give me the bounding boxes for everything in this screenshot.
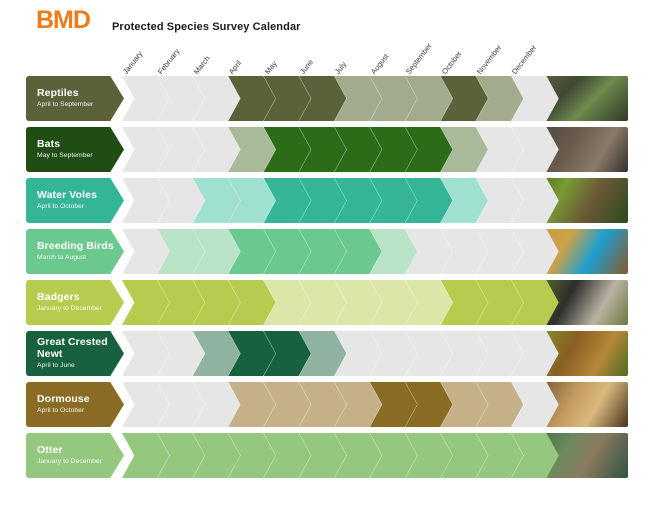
survey-calendar-page: BMD Protected Species Survey Calendar Ja… — [0, 0, 654, 508]
month-header-row: JanuaryFebruaryMarchAprilMayJuneJulyAugu… — [0, 30, 654, 76]
species-row[interactable]: Breeding BirdsMarch to AugustSub-optimal — [26, 229, 628, 274]
species-season-range: January to December — [37, 305, 124, 313]
species-name: Breeding Birds — [37, 241, 124, 253]
species-season-range: April to October — [37, 203, 124, 211]
species-label-cell[interactable]: DormouseApril to October — [26, 382, 124, 427]
species-season-range: March to August — [37, 254, 124, 262]
species-label-cell[interactable]: BadgersJanuary to December — [26, 280, 124, 325]
species-label-cell[interactable]: Water VolesApril to October — [26, 178, 124, 223]
species-name: Dormouse — [37, 394, 124, 406]
month-cells: Sub-optimalOptimal — [122, 178, 561, 223]
month-cells: Sub-optimalOptimal — [122, 127, 561, 172]
month-cells: OptimalSub-optimal — [122, 280, 561, 325]
species-label-cell[interactable]: Great Crested NewtApril to June — [26, 331, 124, 376]
month-label-july: July — [333, 60, 348, 76]
month-cells: Year-round coverage with seasonal caveat… — [122, 433, 561, 478]
month-label-december: December — [510, 43, 538, 76]
species-label-shape: ReptilesApril to September — [26, 76, 124, 121]
month-label-april: April — [227, 59, 243, 76]
species-label-shape: BadgersJanuary to December — [26, 280, 124, 325]
month-cells: Sub-optimalOptimal — [122, 331, 561, 376]
species-name: Bats — [37, 139, 124, 151]
species-row[interactable]: DormouseApril to OctoberSub-optimalOptim… — [26, 382, 628, 427]
species-season-range: April to September — [37, 101, 124, 109]
species-row[interactable]: BadgersJanuary to DecemberOptimalSub-opt… — [26, 280, 628, 325]
species-label-cell[interactable]: OtterJanuary to December — [26, 433, 124, 478]
species-season-range: April to June — [37, 362, 124, 370]
species-label-shape: Great Crested NewtApril to June — [26, 331, 124, 376]
species-season-range: January to December — [37, 458, 124, 466]
species-season-range: April to October — [37, 407, 124, 415]
species-label-shape: DormouseApril to October — [26, 382, 124, 427]
species-name: Badgers — [37, 292, 124, 304]
species-row[interactable]: ReptilesApril to SeptemberOptimalSub-opt… — [26, 76, 628, 121]
month-label-march: March — [192, 54, 212, 76]
species-label-shape: BatsMay to September — [26, 127, 124, 172]
month-label-august: August — [369, 52, 390, 76]
month-label-february: February — [156, 47, 182, 76]
species-season-range: May to September — [37, 152, 124, 160]
species-label-shape: OtterJanuary to December — [26, 433, 124, 478]
month-cells: OptimalSub-optimal — [122, 76, 561, 121]
species-name: Otter — [37, 445, 124, 457]
species-rows: ReptilesApril to SeptemberOptimalSub-opt… — [26, 76, 628, 484]
species-name: Water Voles — [37, 190, 124, 202]
species-row[interactable]: Great Crested NewtApril to JuneSub-optim… — [26, 331, 628, 376]
species-row[interactable]: OtterJanuary to DecemberYear-round cover… — [26, 433, 628, 478]
species-label-cell[interactable]: ReptilesApril to September — [26, 76, 124, 121]
month-label-may: May — [263, 59, 279, 76]
month-label-october: October — [440, 49, 464, 76]
species-name: Reptiles — [37, 88, 124, 100]
species-row[interactable]: Water VolesApril to OctoberSub-optimalOp… — [26, 178, 628, 223]
species-label-shape: Water VolesApril to October — [26, 178, 124, 223]
species-label-shape: Breeding BirdsMarch to August — [26, 229, 124, 274]
species-name: Great Crested Newt — [37, 337, 124, 360]
month-label-september: September — [404, 42, 434, 76]
species-row[interactable]: BatsMay to SeptemberSub-optimalOptimal — [26, 127, 628, 172]
month-label-november: November — [475, 43, 503, 76]
month-cells: Sub-optimalOptimal — [122, 382, 561, 427]
month-label-june: June — [298, 58, 315, 76]
month-label-january: January — [121, 49, 145, 76]
species-label-cell[interactable]: BatsMay to September — [26, 127, 124, 172]
species-label-cell[interactable]: Breeding BirdsMarch to August — [26, 229, 124, 274]
month-cells: Sub-optimal — [122, 229, 561, 274]
